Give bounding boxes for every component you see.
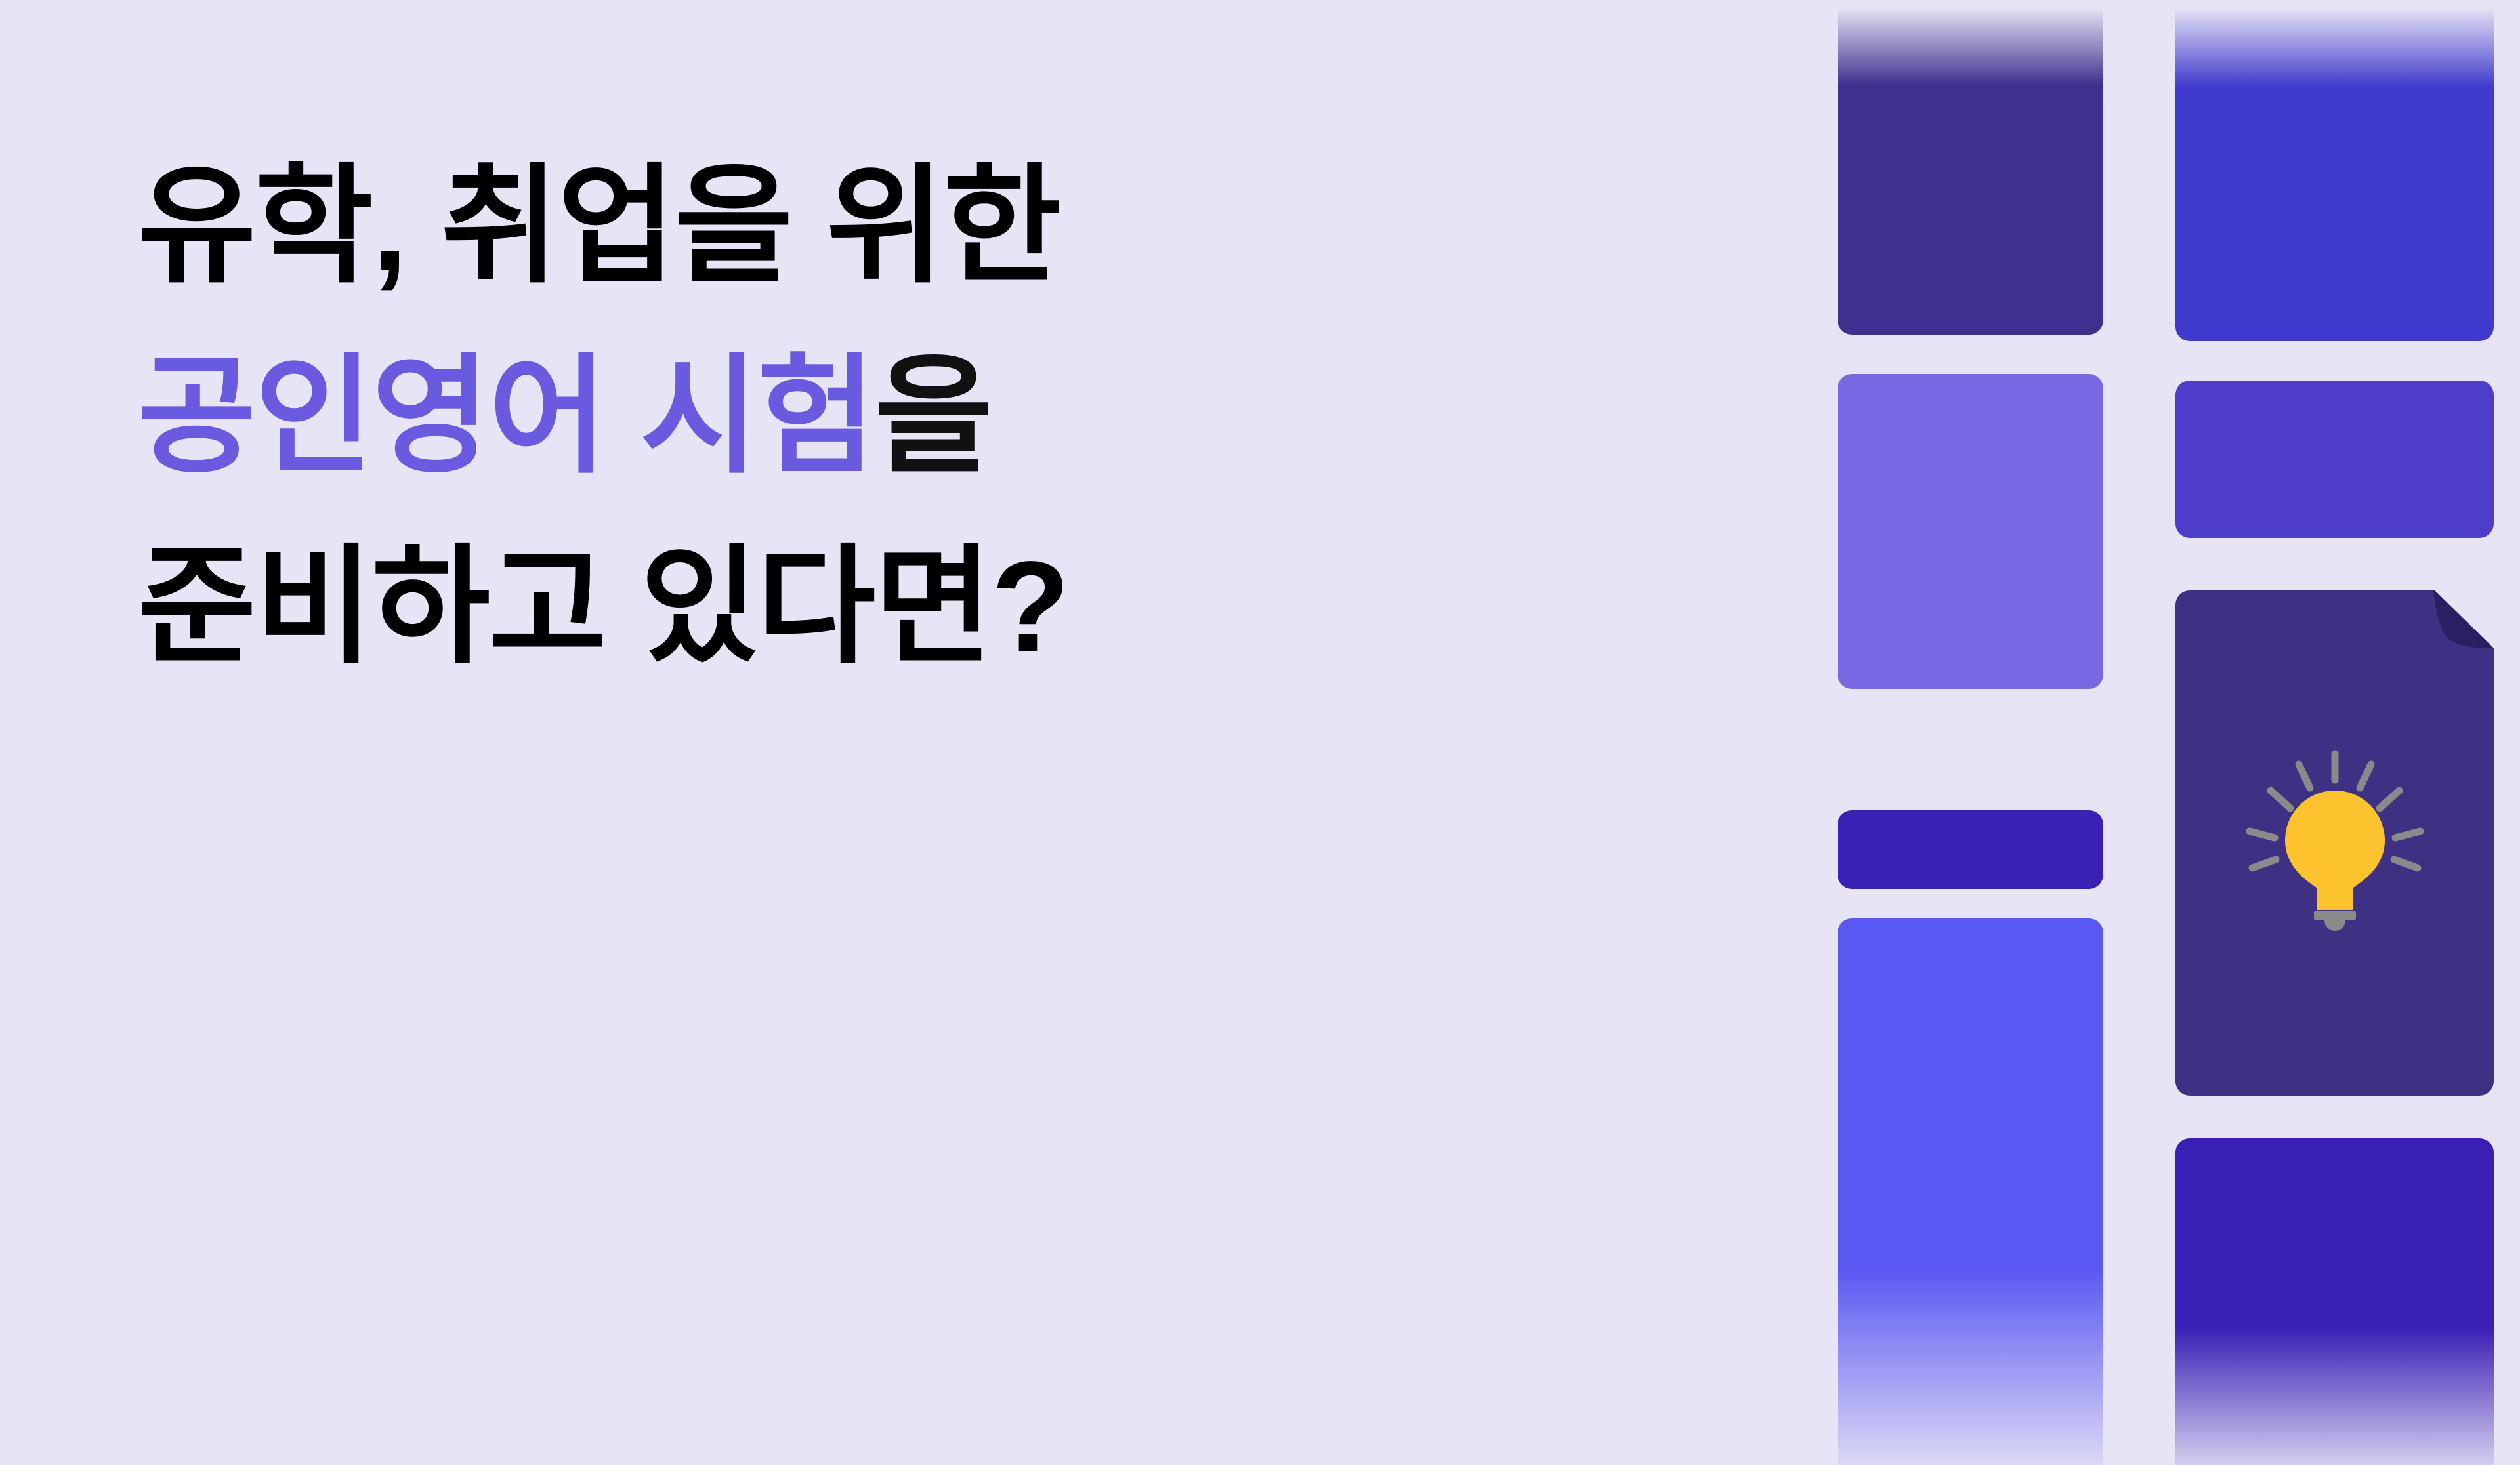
folded-card-shape <box>2175 590 2494 1096</box>
promo-banner: 유학, 취업을 위한 공인영어 시험을 준비하고 있다면? <box>0 0 2520 1465</box>
card-body <box>2175 590 2494 1096</box>
decorative-block-grid <box>1811 0 2520 1465</box>
deco-block-top-left <box>1837 0 2103 335</box>
deco-block-top-right <box>2175 0 2494 341</box>
headline-line-1: 유학, 취업을 위한 <box>138 131 1647 321</box>
headline-line-2-tail: 을 <box>874 344 991 488</box>
deco-block-bottom-left <box>1837 918 2103 1465</box>
deco-block-mid-right <box>2175 381 2494 538</box>
headline-block: 유학, 취업을 위한 공인영어 시험을 준비하고 있다면? <box>138 131 1647 702</box>
headline-line-3: 준비하고 있다면? <box>138 512 1647 702</box>
deco-block-bottom-right <box>2175 1138 2494 1465</box>
lightbulb-card <box>2175 590 2494 1096</box>
deco-block-small-strip <box>1837 810 2103 889</box>
deco-block-mid-left-light <box>1837 374 2103 689</box>
headline-line-2: 공인영어 시험을 <box>138 321 1647 512</box>
headline-accent-text: 공인영어 시험 <box>138 344 874 488</box>
